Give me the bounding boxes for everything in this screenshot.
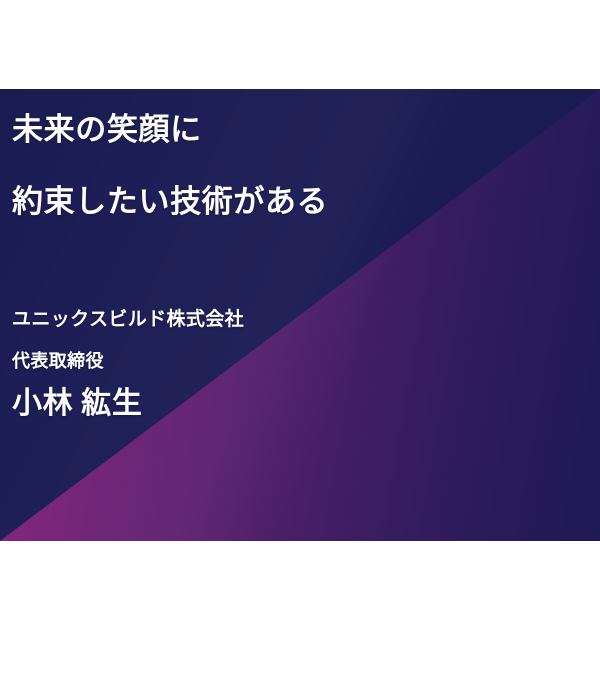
headline: 未来の笑顔に 約束したい技術がある xyxy=(12,114,572,217)
banner-content: 未来の笑顔に 約束したい技術がある ユニックスビルド株式会社 代表取締役 小林 … xyxy=(0,89,600,541)
company-name: ユニックスビルド株式会社 xyxy=(12,310,482,329)
page: 未来の笑顔に 約束したい技術がある ユニックスビルド株式会社 代表取締役 小林 … xyxy=(0,0,600,693)
hero-banner: 未来の笑顔に 約束したい技術がある ユニックスビルド株式会社 代表取締役 小林 … xyxy=(0,89,600,541)
headline-line-1: 未来の笑顔に xyxy=(12,114,572,145)
signature-block: ユニックスビルド株式会社 代表取締役 小林 紘生 xyxy=(12,310,482,419)
person-name: 小林 紘生 xyxy=(12,389,482,419)
headline-line-2: 約束したい技術がある xyxy=(12,186,572,217)
job-title: 代表取締役 xyxy=(12,352,482,370)
